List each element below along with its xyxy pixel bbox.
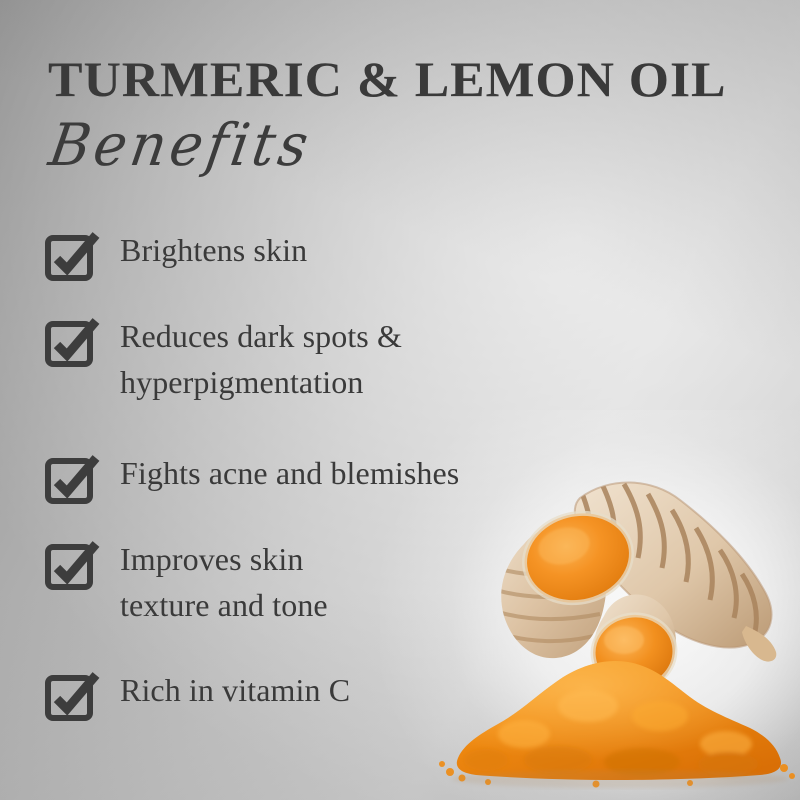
list-item-label: Improves skin texture and tone — [120, 535, 328, 628]
poster-canvas: TURMERIC & LEMON OIL Benefits Brightens … — [0, 0, 800, 800]
checkbox-checked-icon — [44, 453, 100, 505]
turmeric-root-and-powder-photo — [428, 466, 798, 796]
list-item-label: Reduces dark spots & hyperpigmentation — [120, 312, 402, 405]
heading-block: TURMERIC & LEMON OIL Benefits — [48, 54, 758, 173]
list-item-label: Brightens skin — [120, 226, 307, 273]
checkbox-checked-icon — [44, 670, 100, 722]
list-item: Reduces dark spots & hyperpigmentation — [44, 312, 604, 405]
checkbox-checked-icon — [44, 316, 100, 368]
list-item-label: Fights acne and blemishes — [120, 449, 459, 496]
list-item-label: Rich in vitamin C — [120, 666, 350, 713]
page-subtitle: Benefits — [45, 116, 762, 174]
list-item: Brightens skin — [44, 226, 604, 282]
turmeric-powder-mound — [439, 661, 795, 788]
page-title: TURMERIC & LEMON OIL — [48, 54, 783, 104]
checkbox-checked-icon — [44, 230, 100, 282]
checkbox-checked-icon — [44, 539, 100, 591]
